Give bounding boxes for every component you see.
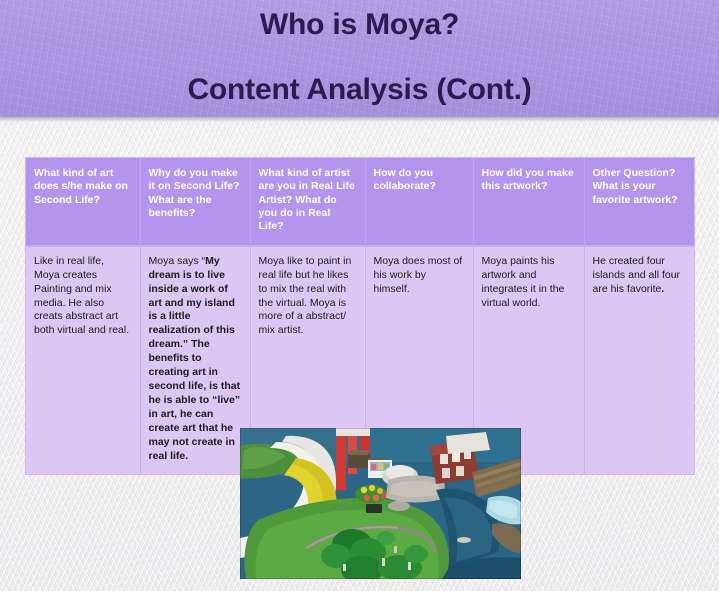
table-header-row: What kind of art does s/he make on Secon… — [26, 158, 694, 246]
cell-other-question-period: . — [661, 283, 664, 295]
cell-collaborate-text: Moya does most of his work by himself. — [374, 255, 463, 295]
page-title: Who is Moya? — [0, 8, 719, 42]
content-analysis-table: What kind of art does s/he make on Secon… — [26, 158, 694, 474]
cell-real-life-text: Moya like to paint in real life but he l… — [259, 255, 352, 337]
column-header-collaborate: How do you collaborate? — [365, 158, 473, 246]
cell-why-lead-text: Moya says “ — [149, 255, 206, 267]
banner-shadow-divider — [0, 117, 719, 122]
cell-art-type-text: Like in real life, Moya creates Painting… — [34, 255, 129, 337]
cell-why-second-life: Moya says “My dream is to live inside a … — [140, 246, 250, 474]
column-header-real-life-artist: What kind of artist are you in Real Life… — [250, 158, 365, 246]
column-header-how-made: How did you make this artwork? — [473, 158, 584, 246]
column-header-other-question: Other Question? What is your favorite ar… — [584, 158, 694, 246]
page-subtitle: Content Analysis (Cont.) — [0, 73, 719, 107]
cell-how-made-text: Moya paints his artwork and integrates i… — [482, 255, 565, 309]
second-life-island-screenshot — [240, 428, 521, 579]
column-header-art-type: What kind of art does s/he make on Secon… — [26, 158, 140, 246]
title-banner: Who is Moya? Content Analysis (Cont.) — [0, 0, 719, 117]
cell-why-bold-text: My dream is to live inside a work of art… — [149, 255, 241, 462]
column-header-why-second-life: Why do you make it on Second Life? What … — [140, 158, 250, 246]
cell-other-question-text: He created four islands and all four are… — [593, 255, 681, 295]
cell-art-type: Like in real life, Moya creates Painting… — [26, 246, 140, 474]
cell-other-question: He created four islands and all four are… — [584, 246, 694, 474]
